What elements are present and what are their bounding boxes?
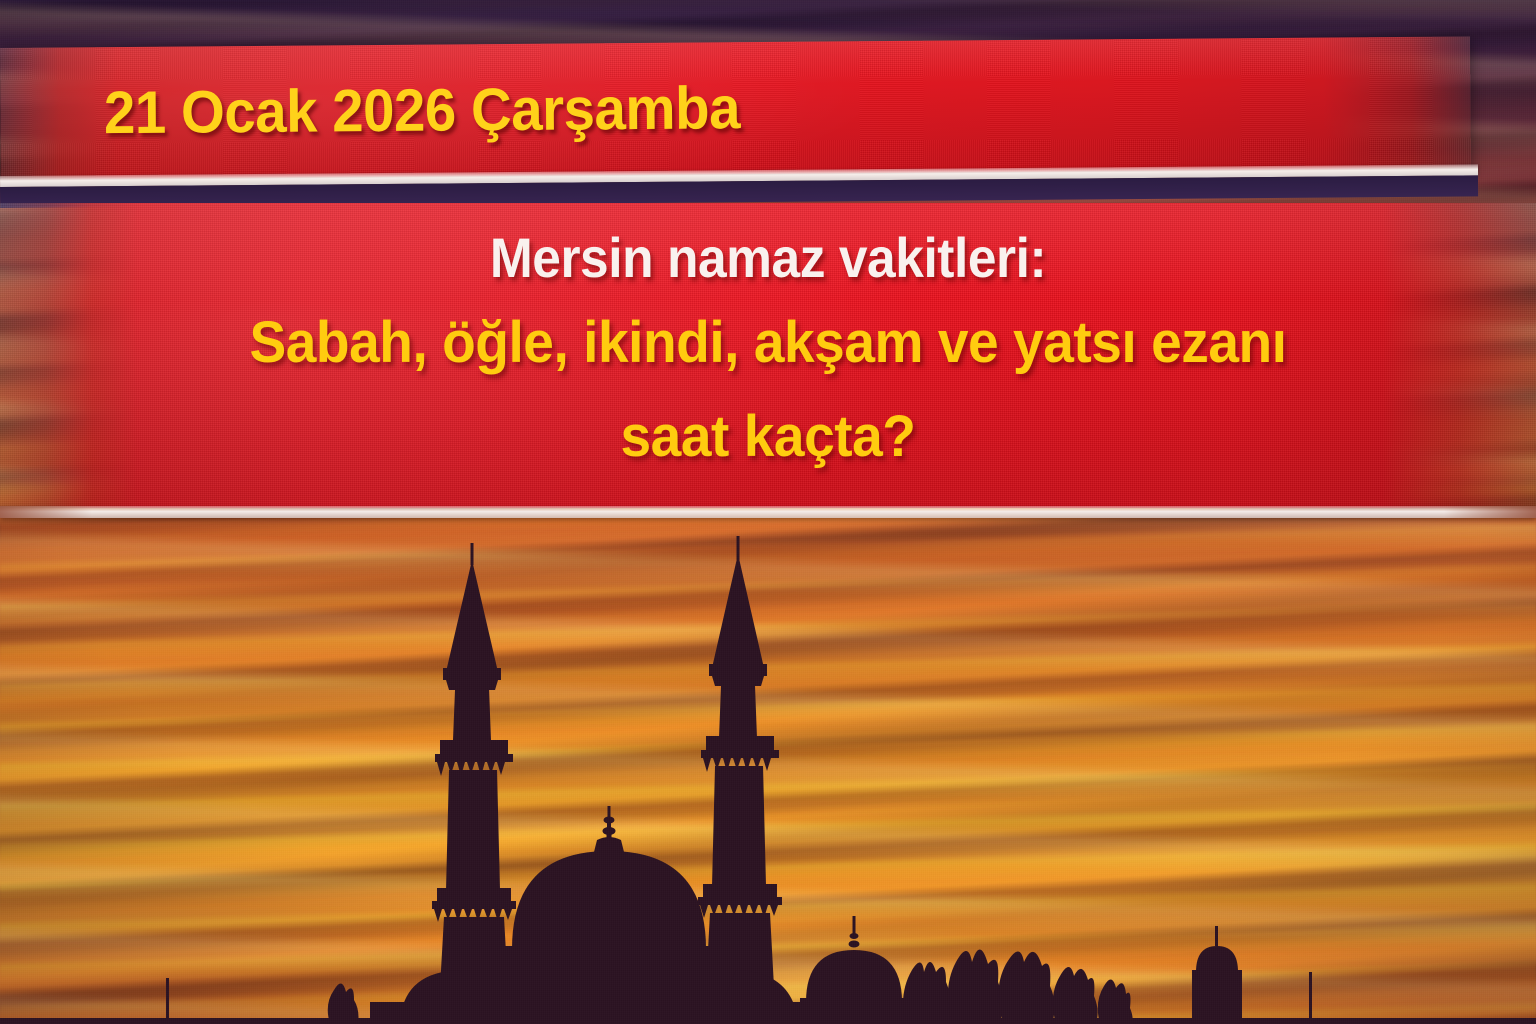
divider-line-bottom — [0, 506, 1536, 518]
headline-text-block: Mersin namaz vakitleri: Sabah, öğle, iki… — [0, 203, 1536, 508]
date-text: 21 Ocak 2026 Çarşamba — [0, 37, 1383, 180]
headline-banner: Mersin namaz vakitleri: Sabah, öğle, iki… — [0, 203, 1536, 508]
date-banner: 21 Ocak 2026 Çarşamba — [0, 36, 1471, 180]
headline-line-3: saat kaçta? — [38, 391, 1497, 483]
poster-canvas: 21 Ocak 2026 Çarşamba Mersin namaz vakit… — [0, 0, 1536, 1024]
headline-line-1: Mersin namaz vakitleri: — [61, 221, 1474, 295]
headline-line-2: Sabah, öğle, ikindi, akşam ve yatsı ezan… — [38, 295, 1497, 391]
